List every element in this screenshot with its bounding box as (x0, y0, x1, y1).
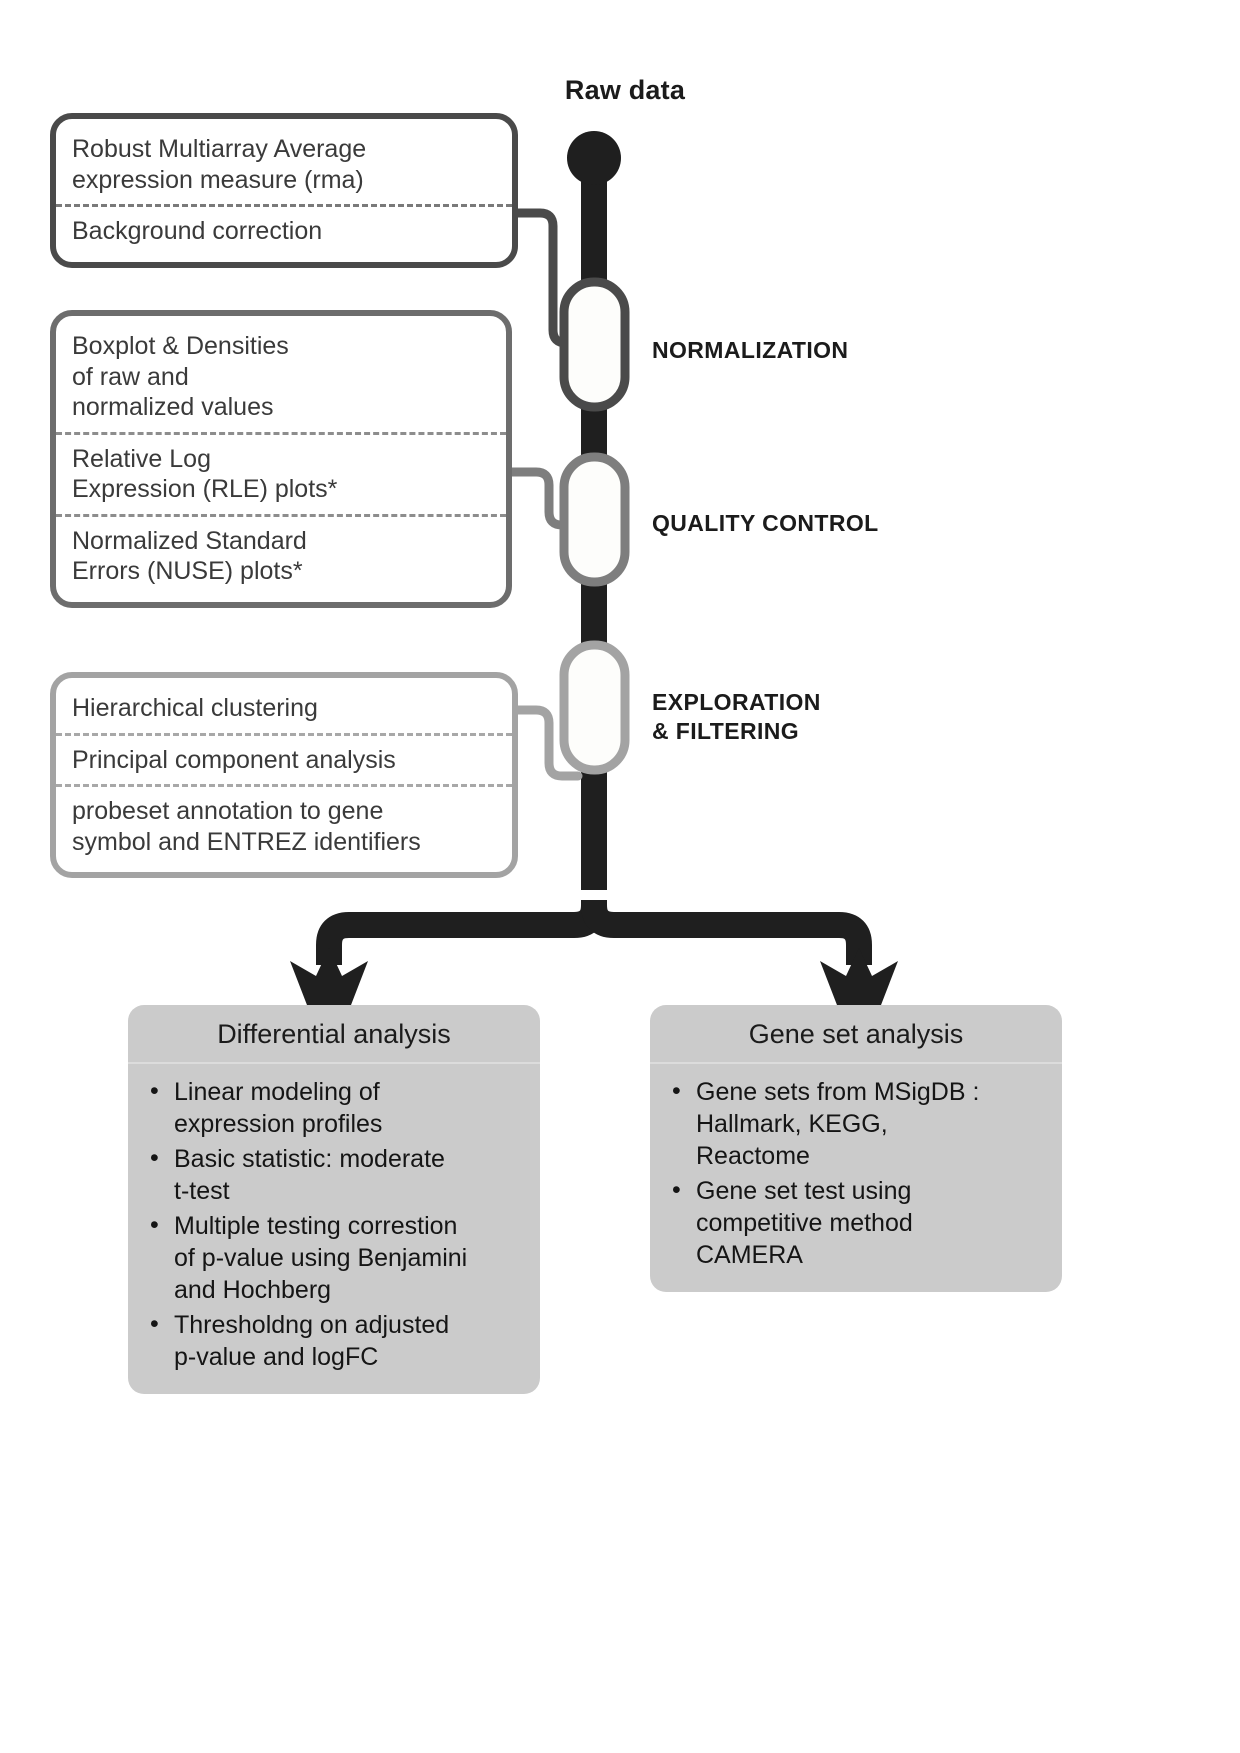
step-item: Boxplot & Densities of raw and normalize… (56, 322, 506, 432)
step-item: probeset annotation to gene symbol and E… (56, 784, 512, 866)
list-item: Multiple testing correstion of p-value u… (148, 1210, 524, 1306)
panel-title: Differential analysis (128, 1005, 540, 1064)
raw-data-label: Raw data (505, 75, 745, 106)
stage-capsule-normalization (564, 282, 625, 407)
result-panel-differential-analysis: Differential analysis Linear modeling of… (128, 1005, 540, 1394)
panel-bullet-list: Gene sets from MSigDB : Hallmark, KEGG, … (650, 1064, 1062, 1292)
step-item: Principal component analysis (56, 733, 512, 785)
stage-capsule-exploration (564, 645, 625, 770)
list-item: Linear modeling of expression profiles (148, 1076, 524, 1140)
step-item: Robust Multiarray Average expression mea… (56, 125, 512, 204)
list-item: Gene sets from MSigDB : Hallmark, KEGG, … (670, 1076, 1046, 1172)
spine-trunk (567, 131, 621, 890)
step-item: Normalized Standard Errors (NUSE) plots* (56, 514, 506, 596)
step-card-quality-control: Boxplot & Densities of raw and normalize… (50, 310, 512, 608)
stage-label-exploration-filtering: EXPLORATION & FILTERING (652, 688, 821, 747)
list-item: Basic statistic: moderate t-test (148, 1143, 524, 1207)
panel-title: Gene set analysis (650, 1005, 1062, 1064)
stage-label-normalization: NORMALIZATION (652, 336, 848, 365)
stage-label-quality-control: QUALITY CONTROL (652, 509, 879, 538)
workflow-diagram: Raw data NORMALIZATION QUALITY CONTROL E… (0, 0, 1240, 1753)
step-card-exploration-filtering: Hierarchical clustering Principal compon… (50, 672, 518, 878)
step-card-normalization: Robust Multiarray Average expression mea… (50, 113, 518, 268)
fork-junction (329, 900, 859, 965)
list-item: Thresholdng on adjusted p-value and logF… (148, 1309, 524, 1373)
step-item: Background correction (56, 204, 512, 256)
step-item: Hierarchical clustering (56, 684, 512, 733)
panel-bullet-list: Linear modeling of expression profiles B… (128, 1064, 540, 1394)
stage-capsule-quality-control (564, 457, 625, 582)
list-item: Gene set test using competitive method C… (670, 1175, 1046, 1271)
result-panel-gene-set-analysis: Gene set analysis Gene sets from MSigDB … (650, 1005, 1062, 1292)
step-item: Relative Log Expression (RLE) plots* (56, 432, 506, 514)
raw-data-node (567, 131, 621, 185)
